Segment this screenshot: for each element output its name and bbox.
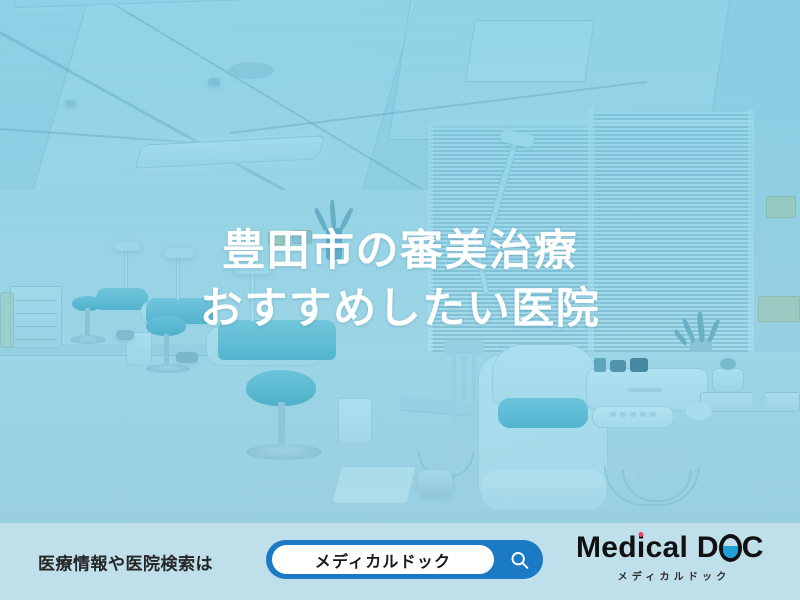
logo-text-ed: ed bbox=[601, 531, 637, 564]
search-button[interactable]: メディカルドック bbox=[266, 540, 543, 579]
logo-text-c: C bbox=[742, 531, 764, 564]
hero-title-line-2: おすすめしたい医院 bbox=[0, 280, 800, 338]
logo-text-m: M bbox=[576, 531, 601, 564]
search-input[interactable]: メディカルドック bbox=[272, 545, 494, 574]
logo-text-cal: cal bbox=[646, 531, 689, 564]
logo-letter-i: i bbox=[637, 531, 646, 565]
hero-banner-image: 豊田市の審美治療 おすすめしたい医院 bbox=[0, 0, 800, 523]
logo-i-dot bbox=[639, 532, 644, 537]
logo-letter-o bbox=[719, 534, 742, 562]
search-icon[interactable] bbox=[509, 549, 530, 570]
hero-title-line-1: 豊田市の審美治療 bbox=[0, 222, 800, 280]
page-root: 豊田市の審美治療 おすすめしたい医院 医療情報や医院検索は メディカルドック M… bbox=[0, 0, 800, 600]
brand-logo[interactable]: Medical DC メディカルドック bbox=[576, 531, 772, 583]
search-input-value: メディカルドック bbox=[315, 548, 451, 572]
logo-wordmark: Medical DC bbox=[576, 531, 772, 565]
hero-title: 豊田市の審美治療 おすすめしたい医院 bbox=[0, 222, 800, 338]
logo-text-d: D bbox=[697, 531, 719, 564]
logo-text-space bbox=[688, 531, 697, 564]
bottom-bar-label: 医療情報や医院検索は bbox=[38, 549, 213, 574]
logo-subtitle: メディカルドック bbox=[576, 568, 772, 583]
